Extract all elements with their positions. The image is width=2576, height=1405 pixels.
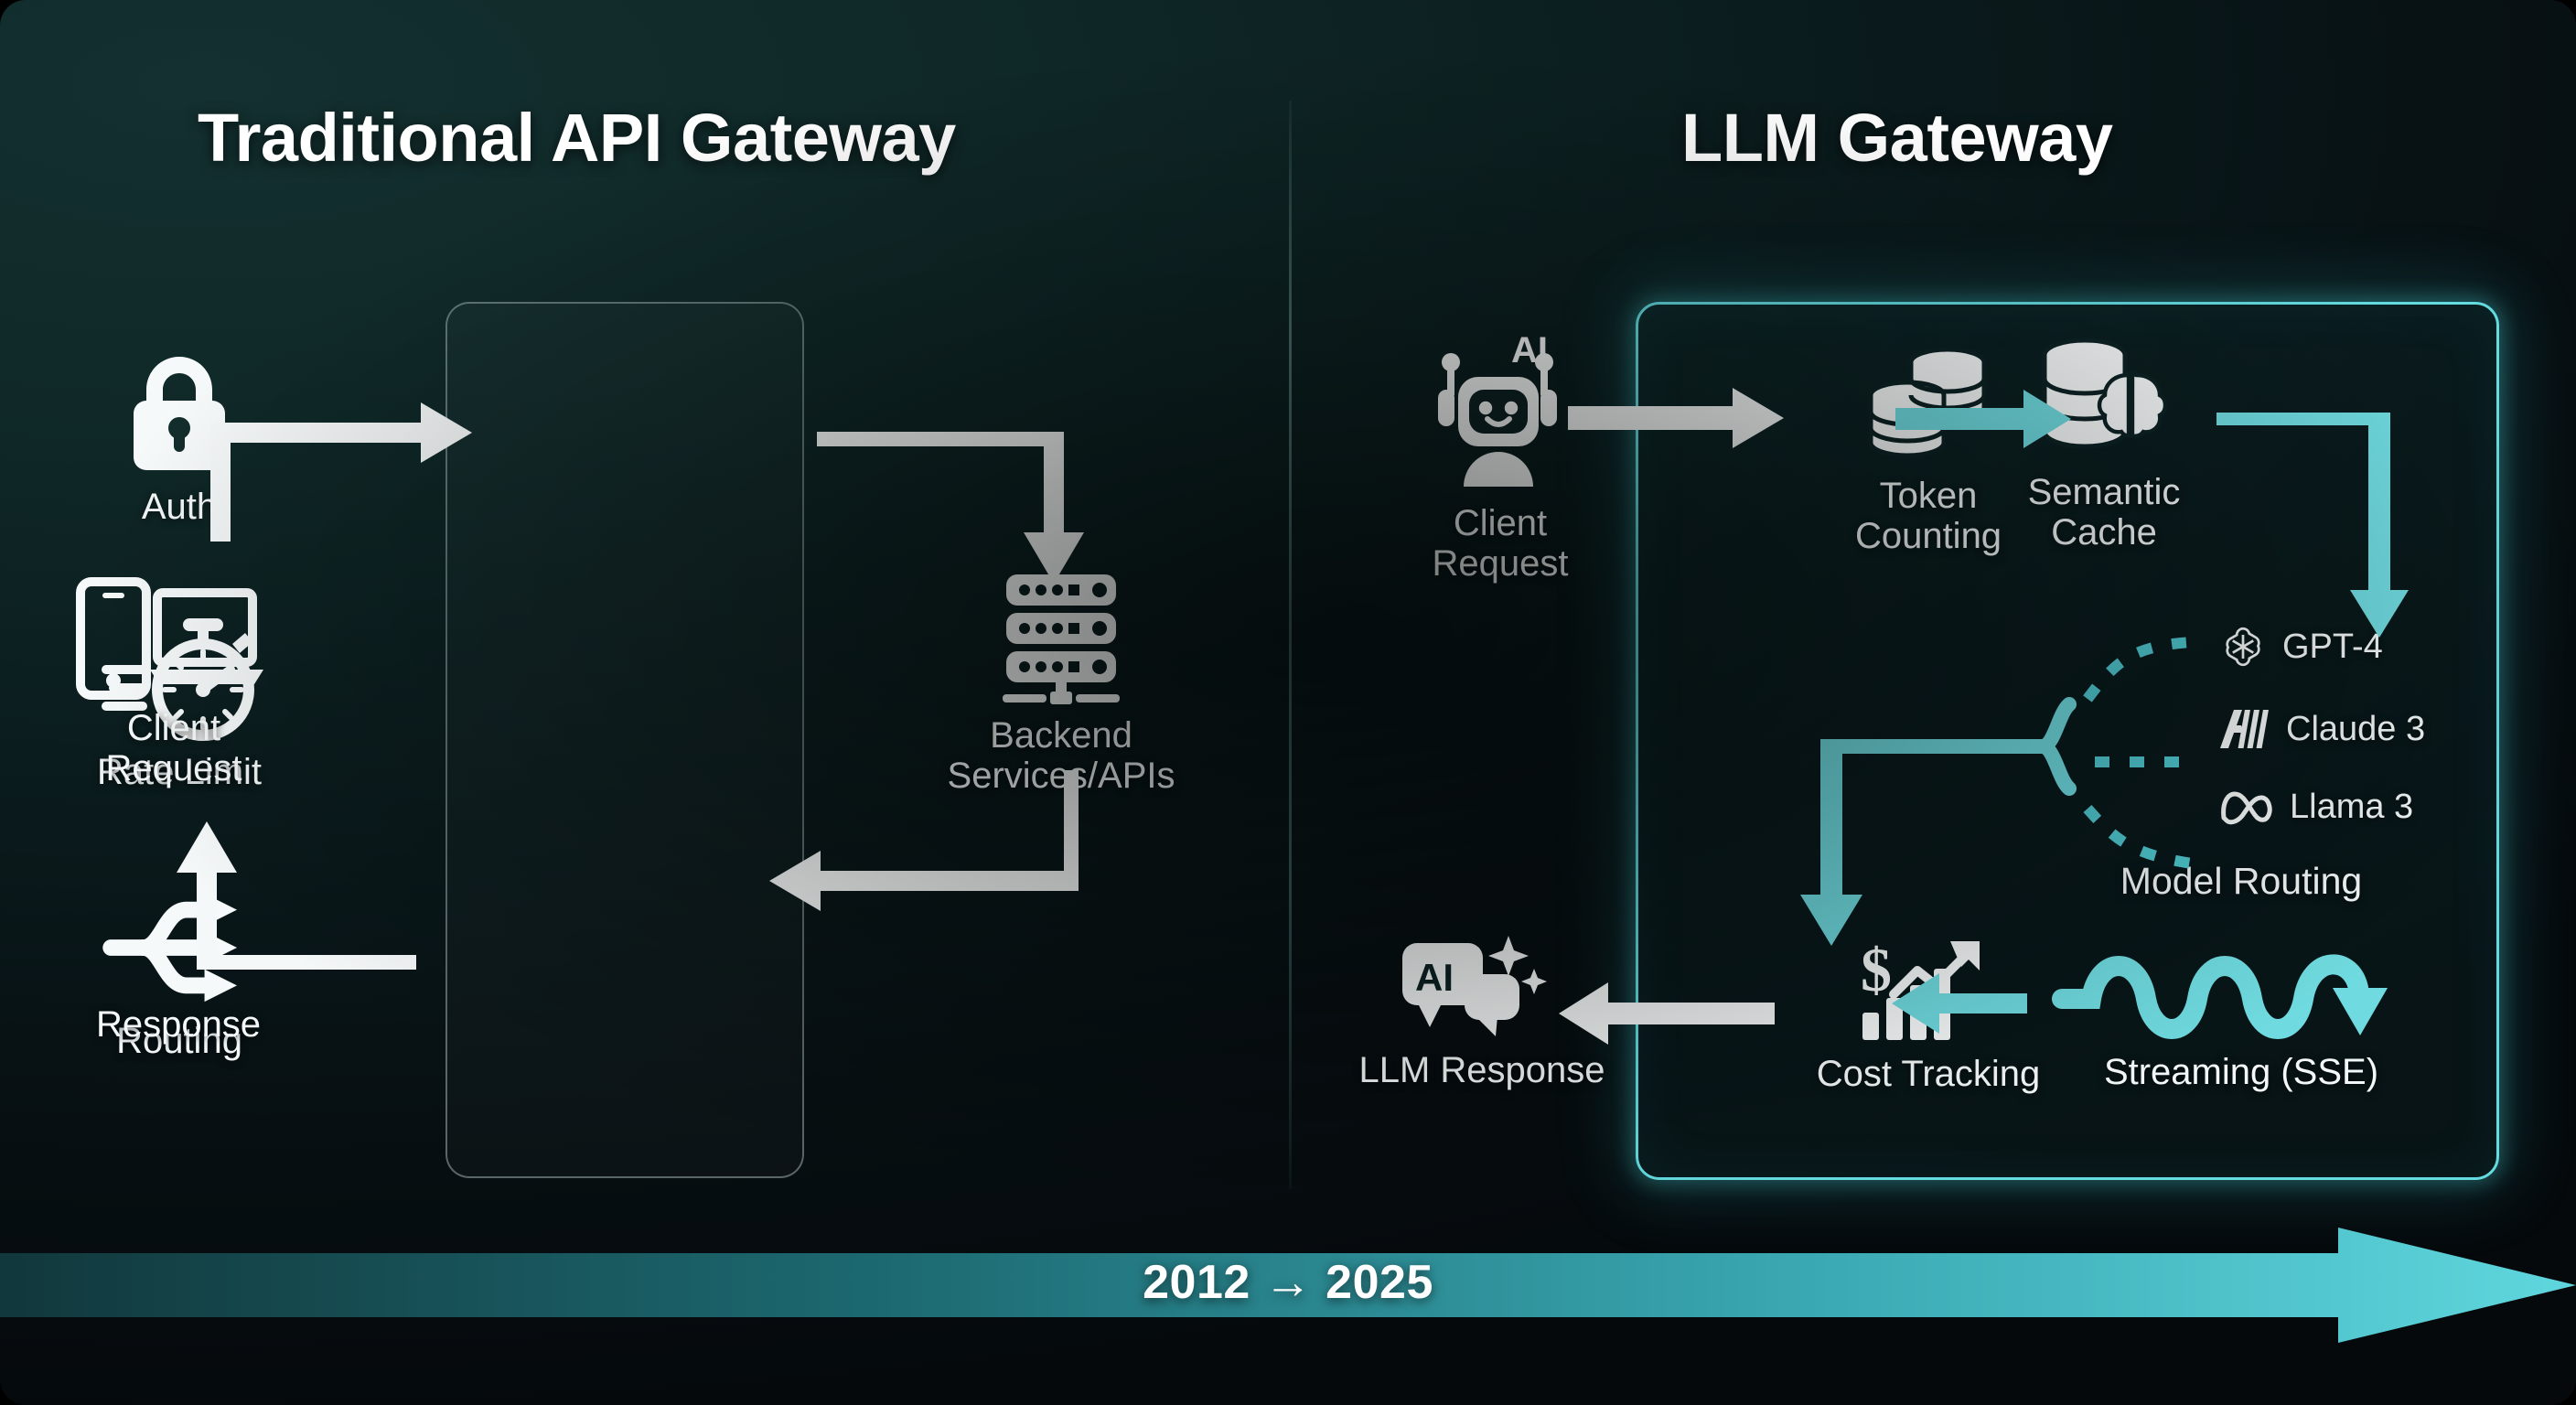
llm-flow-arrows bbox=[0, 0, 2576, 1405]
arrow-cost-to-response bbox=[1559, 982, 1775, 1045]
arrow-client-to-token bbox=[1568, 388, 1784, 448]
routing-dotted-lines bbox=[2088, 642, 2192, 863]
arrow-cache-to-routing bbox=[2216, 413, 2409, 638]
arrow-token-to-cache bbox=[1895, 390, 2071, 448]
routing-fan-connector bbox=[1994, 704, 2069, 788]
arrow-routing-to-cost bbox=[1800, 739, 2003, 946]
timeline-label: 2012 → 2025 bbox=[0, 1255, 2576, 1310]
arrow-streaming-to-cost bbox=[1892, 973, 2027, 1034]
